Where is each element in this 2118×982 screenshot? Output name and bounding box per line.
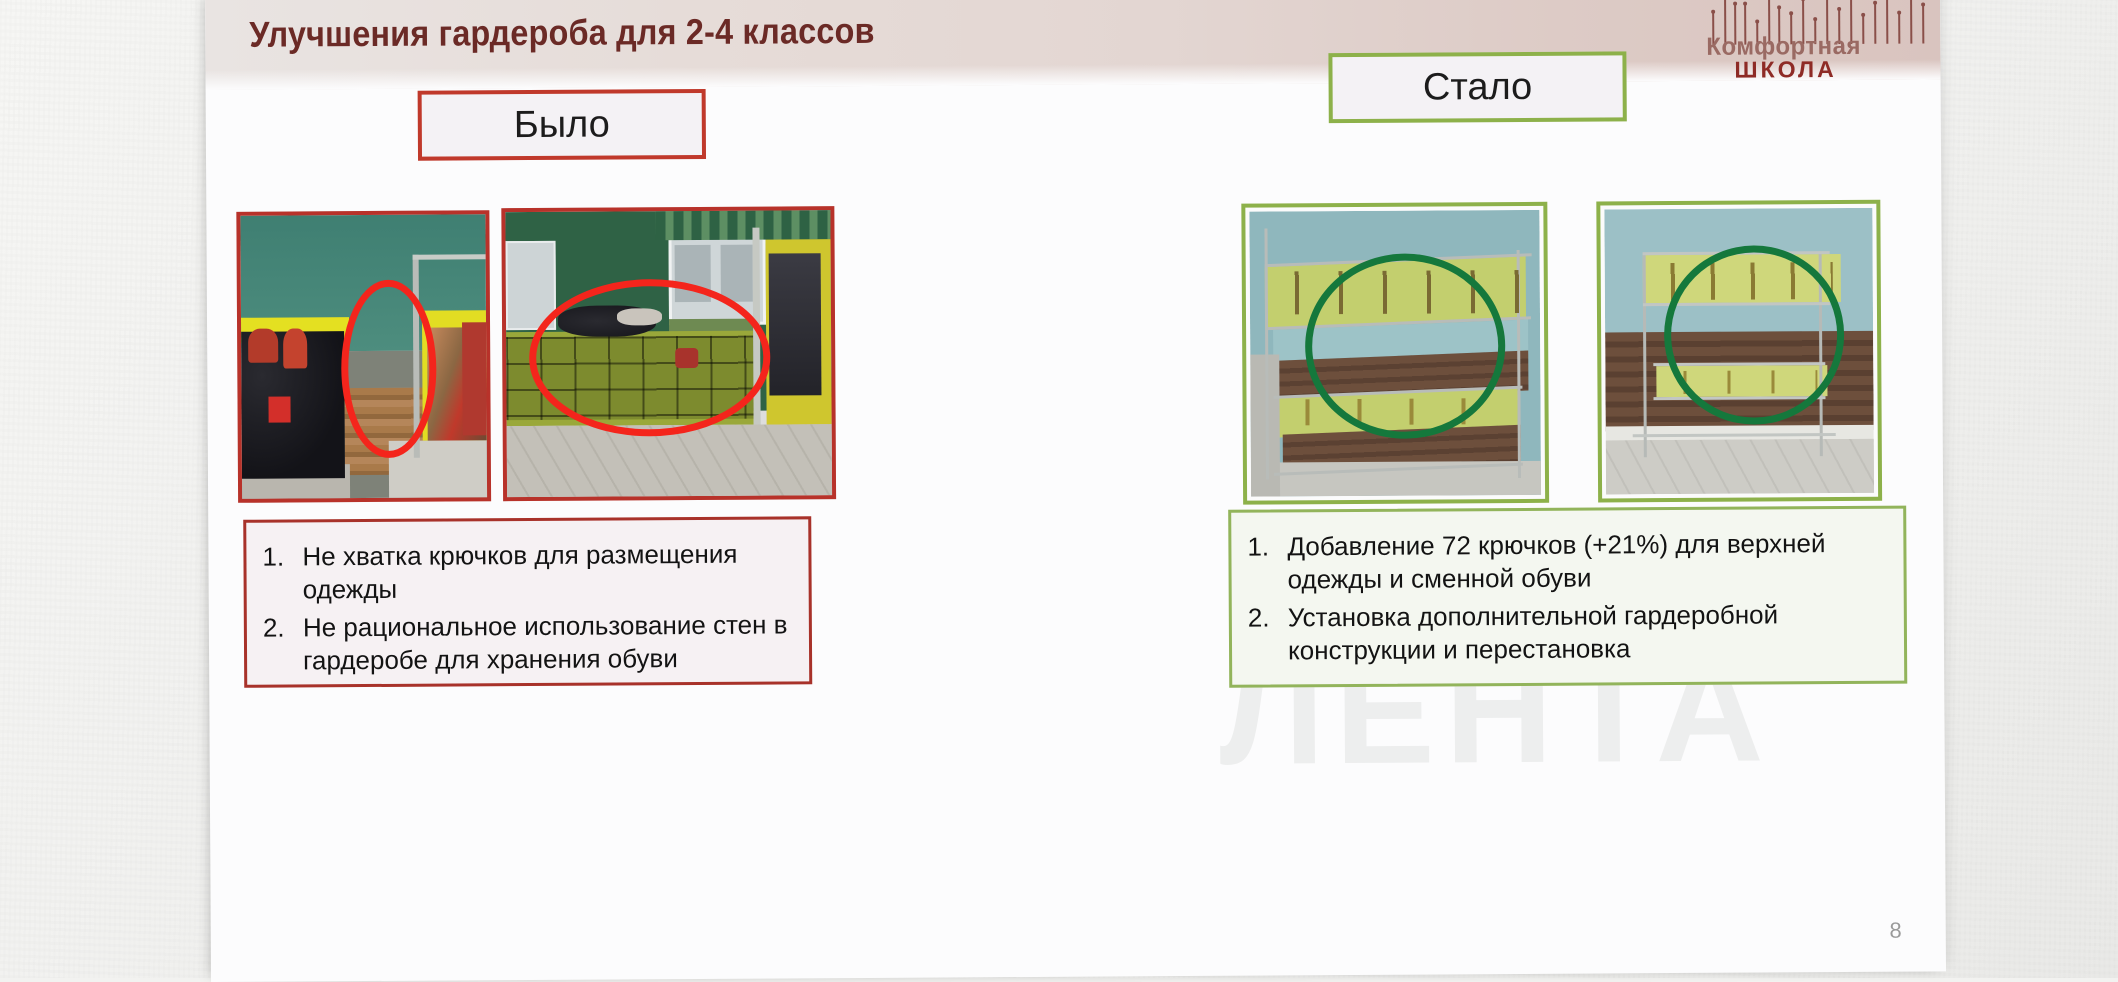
list-item-text: Не рациональное использование стен в гар… <box>303 608 793 678</box>
list-item: 1. Добавление 72 крючков (+21%) для верх… <box>1247 527 1887 597</box>
bullets-after: 1. Добавление 72 крючков (+21%) для верх… <box>1228 506 1907 688</box>
list-item: 2. Установка дополнительной гардеробной … <box>1248 597 1888 667</box>
photo-after-hook-rack <box>1596 200 1882 503</box>
photo-before-shoe-cubbies <box>501 206 836 501</box>
logo-word-secondary: ШКОЛА <box>1734 56 1836 84</box>
printed-slide: Улучшения гардероба для 2-4 классов Комф… <box>205 0 1946 982</box>
list-item-text: Добавление 72 крючков (+21%) для верхней… <box>1287 527 1887 597</box>
bullets-before: 1. Не хватка крючков для размещения одеж… <box>243 516 812 687</box>
page-title: Улучшения гардероба для 2-4 классов <box>249 10 875 56</box>
list-item-number: 2. <box>263 611 289 678</box>
label-after: Стало <box>1328 51 1626 123</box>
list-item: 1. Не хватка крючков для размещения одеж… <box>262 537 792 607</box>
list-item-number: 1. <box>262 541 288 608</box>
list-item-text: Не хватка крючков для размещения одежды <box>302 537 792 607</box>
list-item-text: Установка дополнительной гардеробной кон… <box>1288 597 1888 667</box>
photo-before-hooks-wall <box>236 210 491 503</box>
list-item-number: 2. <box>1248 601 1274 668</box>
list-item: 2. Не рациональное использование стен в … <box>263 608 793 678</box>
photo-after-hooks-wall <box>1241 202 1549 505</box>
page-number: 8 <box>1889 918 1901 944</box>
logo: Комфортная ШКОЛА <box>1704 0 1935 83</box>
label-before: Было <box>418 89 706 161</box>
list-item-number: 1. <box>1247 530 1273 597</box>
